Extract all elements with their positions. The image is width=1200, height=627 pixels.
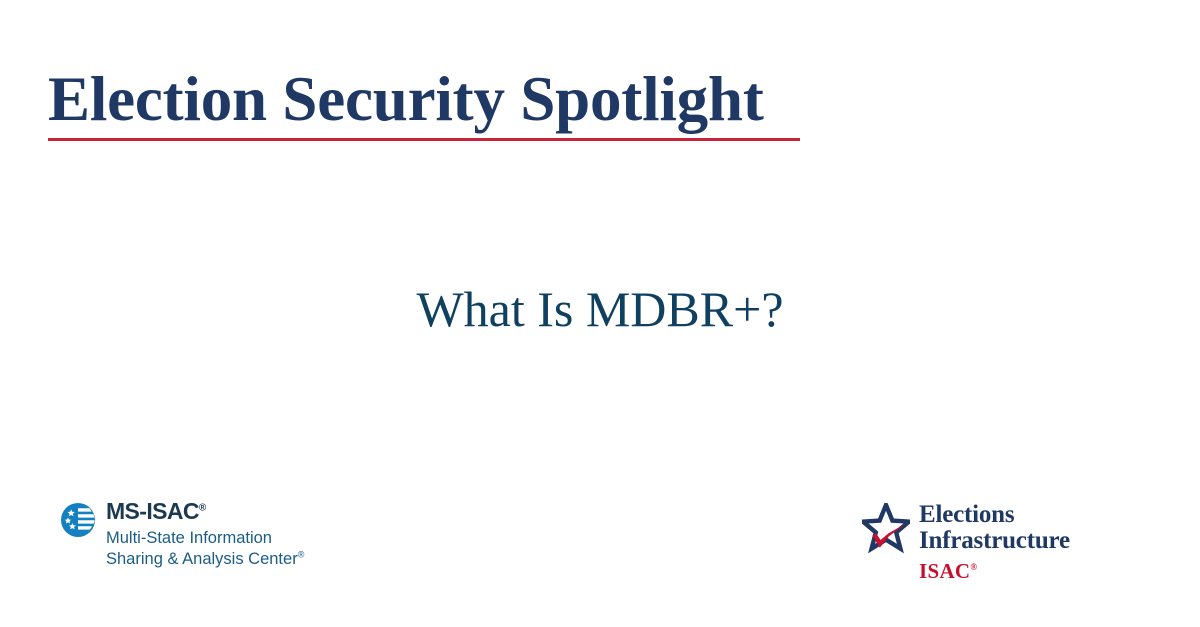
ms-isac-wordmark-text: MS-ISAC [106, 498, 199, 524]
page-title: Election Security Spotlight [48, 68, 808, 131]
ms-isac-wordmark: MS-ISAC® [106, 500, 304, 523]
title-block: Election Security Spotlight [48, 68, 808, 141]
ms-isac-logo: MS-ISAC® Multi-State InformationSharing … [60, 500, 304, 569]
ei-isac-name-line2: Infrastructure [919, 528, 1070, 554]
star-with-red-swoosh-icon [862, 503, 910, 555]
subtitle-block: What Is MDBR+? [0, 282, 1200, 337]
ei-isac-isac-label: ISAC® [919, 561, 1070, 582]
ms-isac-text-block: MS-ISAC® Multi-State InformationSharing … [106, 500, 304, 569]
ms-isac-tagline: Multi-State InformationSharing & Analysi… [106, 528, 304, 569]
ei-isac-logo: Elections Infrastructure ISAC® [862, 502, 1070, 582]
ei-isac-name-line1: Elections [919, 502, 1070, 528]
title-underline-rule [48, 138, 800, 141]
ms-isac-stars-and-stripes-circle-icon [60, 502, 96, 538]
ms-isac-tagline-line1: Multi-State Information [106, 529, 272, 547]
ei-isac-isac-text: ISAC [919, 559, 970, 583]
ei-isac-text-block: Elections Infrastructure ISAC® [919, 502, 1070, 582]
ms-isac-tagline-line2: Sharing & Analysis Center [106, 550, 298, 568]
slide-canvas: Election Security Spotlight What Is MDBR… [0, 0, 1200, 627]
ms-isac-tagline-trademark: ® [298, 549, 305, 559]
ms-isac-wordmark-trademark: ® [199, 502, 206, 513]
slide-subtitle: What Is MDBR+? [416, 282, 783, 337]
ei-isac-isac-trademark: ® [970, 562, 977, 572]
